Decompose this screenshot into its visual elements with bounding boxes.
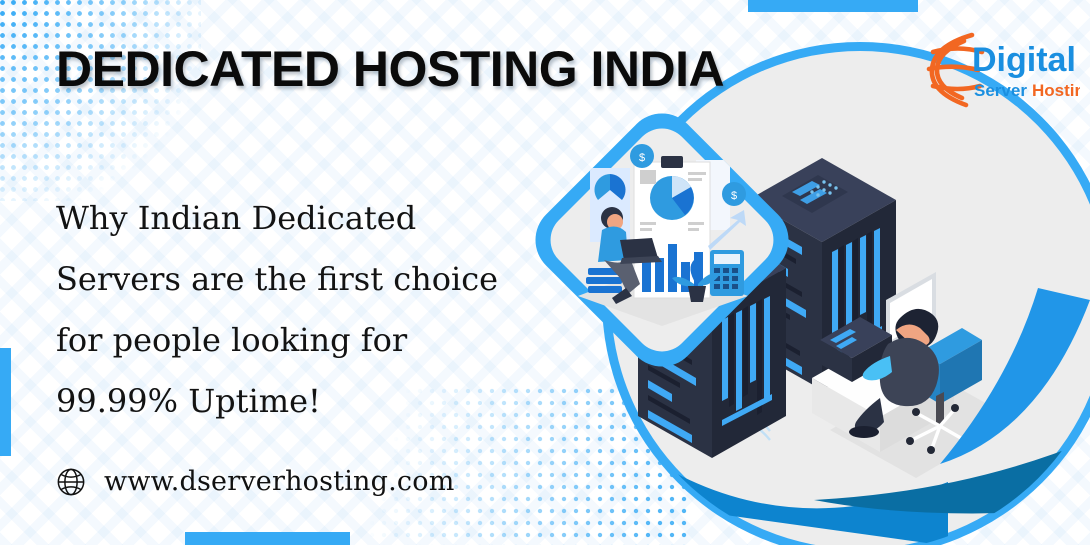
svg-text:$: $ [639, 152, 645, 164]
promo-banner: $ $ [0, 0, 1090, 545]
logo-word-server: Server [974, 81, 1027, 100]
website-row[interactable]: www.dserverhosting.com [56, 466, 455, 497]
subheadline-line-4: 99.99% Uptime! [56, 371, 536, 432]
subheadline: Why Indian Dedicated Servers are the fir… [56, 188, 536, 432]
globe-icon [56, 467, 86, 497]
accent-bar-left [0, 348, 11, 456]
svg-text:$: $ [731, 190, 737, 202]
subheadline-line-3: for people looking for [56, 310, 536, 371]
logo-word-digital: Digital [972, 41, 1076, 79]
logo-word-hosting: Hosting [1032, 81, 1080, 100]
brand-logo[interactable]: Digital Server Hosting [920, 26, 1080, 112]
halftone-dots-top-left [0, 0, 201, 201]
page-title: DEDICATED HOSTING INDIA [56, 40, 724, 98]
subheadline-line-1: Why Indian Dedicated [56, 188, 536, 249]
calculator [710, 250, 744, 296]
website-url[interactable]: www.dserverhosting.com [104, 466, 455, 497]
analytics-scene: $ $ [578, 144, 748, 326]
subheadline-line-2: Servers are the first choice [56, 249, 536, 310]
accent-bar-bottom [185, 532, 350, 545]
